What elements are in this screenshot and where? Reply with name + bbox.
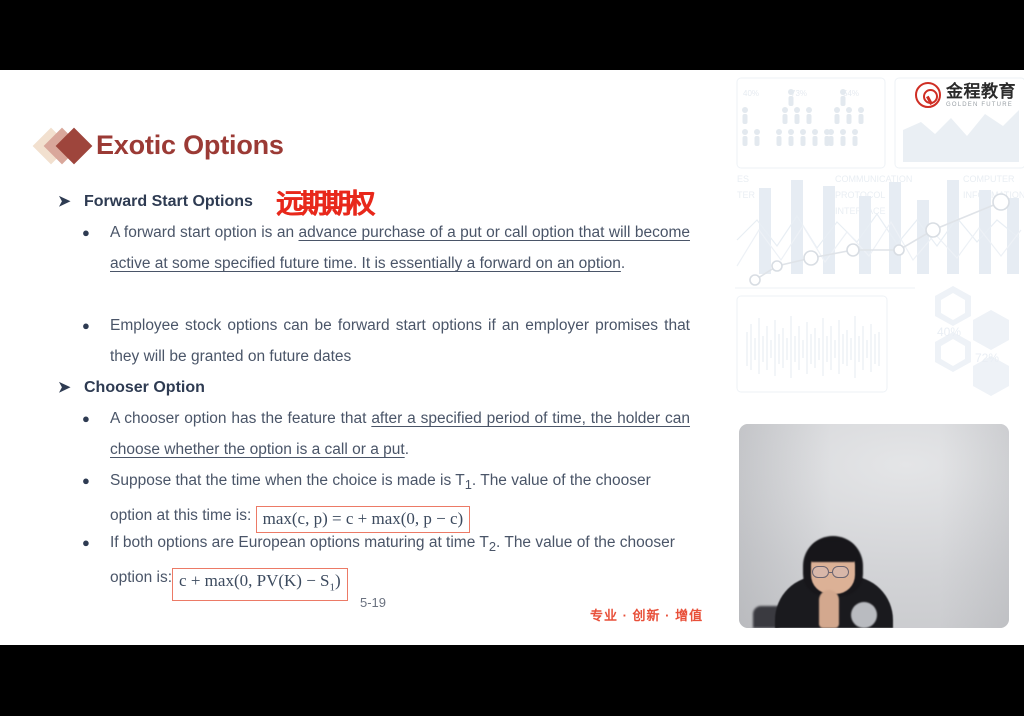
formula-suffix: ): [335, 571, 341, 590]
webcam-shadow-right: [939, 424, 1009, 628]
screen: Exotic Options 远期期权 ➤ Forward Start Opti…: [0, 0, 1024, 716]
eyeglasses-left-lens-icon: [812, 566, 829, 578]
brand-tagline: 专业 · 创新 · 增值: [590, 605, 703, 624]
presenter-hands: [819, 590, 839, 628]
brand-text: 金程教育 GOLDEN FUTURE: [946, 83, 1016, 108]
formula-box-european-value: c + max(0, PV(K) − S1): [172, 568, 348, 601]
webcam-video-panel[interactable]: [739, 424, 1009, 628]
bullet-item: ● A chooser option has the feature that …: [82, 403, 690, 465]
section-heading-chooser: ➤ Chooser Option: [58, 378, 205, 398]
dot-bullet-icon: ●: [82, 310, 110, 341]
time-subscript: 2: [489, 539, 496, 554]
slide-canvas: Exotic Options 远期期权 ➤ Forward Start Opti…: [0, 70, 1024, 645]
dot-bullet-icon: ●: [82, 217, 110, 248]
letterbox-bottom: [0, 645, 1024, 716]
svg-text:40%: 40%: [937, 325, 961, 339]
bullet-text-lead: A forward start option is an: [110, 224, 299, 241]
bullet-text-tail: .: [621, 255, 625, 272]
dot-bullet-icon: ●: [82, 527, 110, 558]
presenter: [775, 536, 893, 628]
brand-emblem-icon: [915, 82, 941, 108]
arrow-bullet-icon: ➤: [58, 378, 84, 398]
bullet-text-lead: A chooser option has the feature that: [110, 410, 371, 427]
brand-logo: 金程教育 GOLDEN FUTURE: [915, 82, 1016, 108]
arrow-bullet-icon: ➤: [58, 192, 84, 212]
page-title: Exotic Options: [96, 130, 284, 161]
formula-prefix: c + max(0, PV(K) − S: [179, 571, 329, 590]
bullet-item: ● Suppose that the time when the choice …: [82, 465, 690, 533]
dot-bullet-icon: ●: [82, 403, 110, 434]
handwritten-annotation: 远期期权: [276, 182, 372, 221]
slide-title-row: Exotic Options: [38, 125, 284, 165]
bullet-item: ● Employee stock options can be forward …: [82, 310, 690, 372]
section-heading-label: Chooser Option: [84, 378, 205, 398]
svg-text:40%: 40%: [743, 89, 759, 98]
eyeglasses-right-lens-icon: [832, 566, 849, 578]
letterbox-top: [0, 0, 1024, 70]
time-subscript: 1: [465, 477, 472, 492]
eyeglasses-bridge-icon: [829, 572, 833, 573]
section-heading-label: Forward Start Options: [84, 192, 253, 212]
svg-text:72%: 72%: [975, 351, 999, 365]
slide-content: Exotic Options 远期期权 ➤ Forward Start Opti…: [0, 70, 735, 645]
dot-bullet-icon: ●: [82, 465, 110, 496]
microphone-icon: [851, 602, 877, 628]
brand-name-cn: 金程教育: [946, 83, 1016, 100]
svg-text:COMPUTER: COMPUTER: [963, 174, 1015, 184]
bullet-text-lead: If both options are European options mat…: [110, 534, 489, 551]
presenter-hair-front: [808, 540, 858, 562]
bullet-item: ● If both options are European options m…: [82, 527, 690, 601]
brand-name-en: GOLDEN FUTURE: [946, 102, 1016, 108]
background-infographic: 40% 73% 54%: [735, 70, 1024, 435]
right-panel: 40% 73% 54%: [735, 70, 1024, 645]
svg-text:ES: ES: [737, 174, 749, 184]
bullet-text-lead: Suppose that the time when the choice is…: [110, 472, 465, 489]
section-heading-forward-start: ➤ Forward Start Options: [58, 192, 253, 212]
bullet-text-lead: Employee stock options can be forward st…: [110, 310, 690, 372]
page-number: 5-19: [360, 595, 386, 610]
diamond-logo-icon: [38, 125, 96, 165]
bullet-item: ● A forward start option is an advance p…: [82, 217, 690, 279]
bullet-text-tail: .: [405, 441, 409, 458]
svg-text:TER: TER: [737, 190, 756, 200]
